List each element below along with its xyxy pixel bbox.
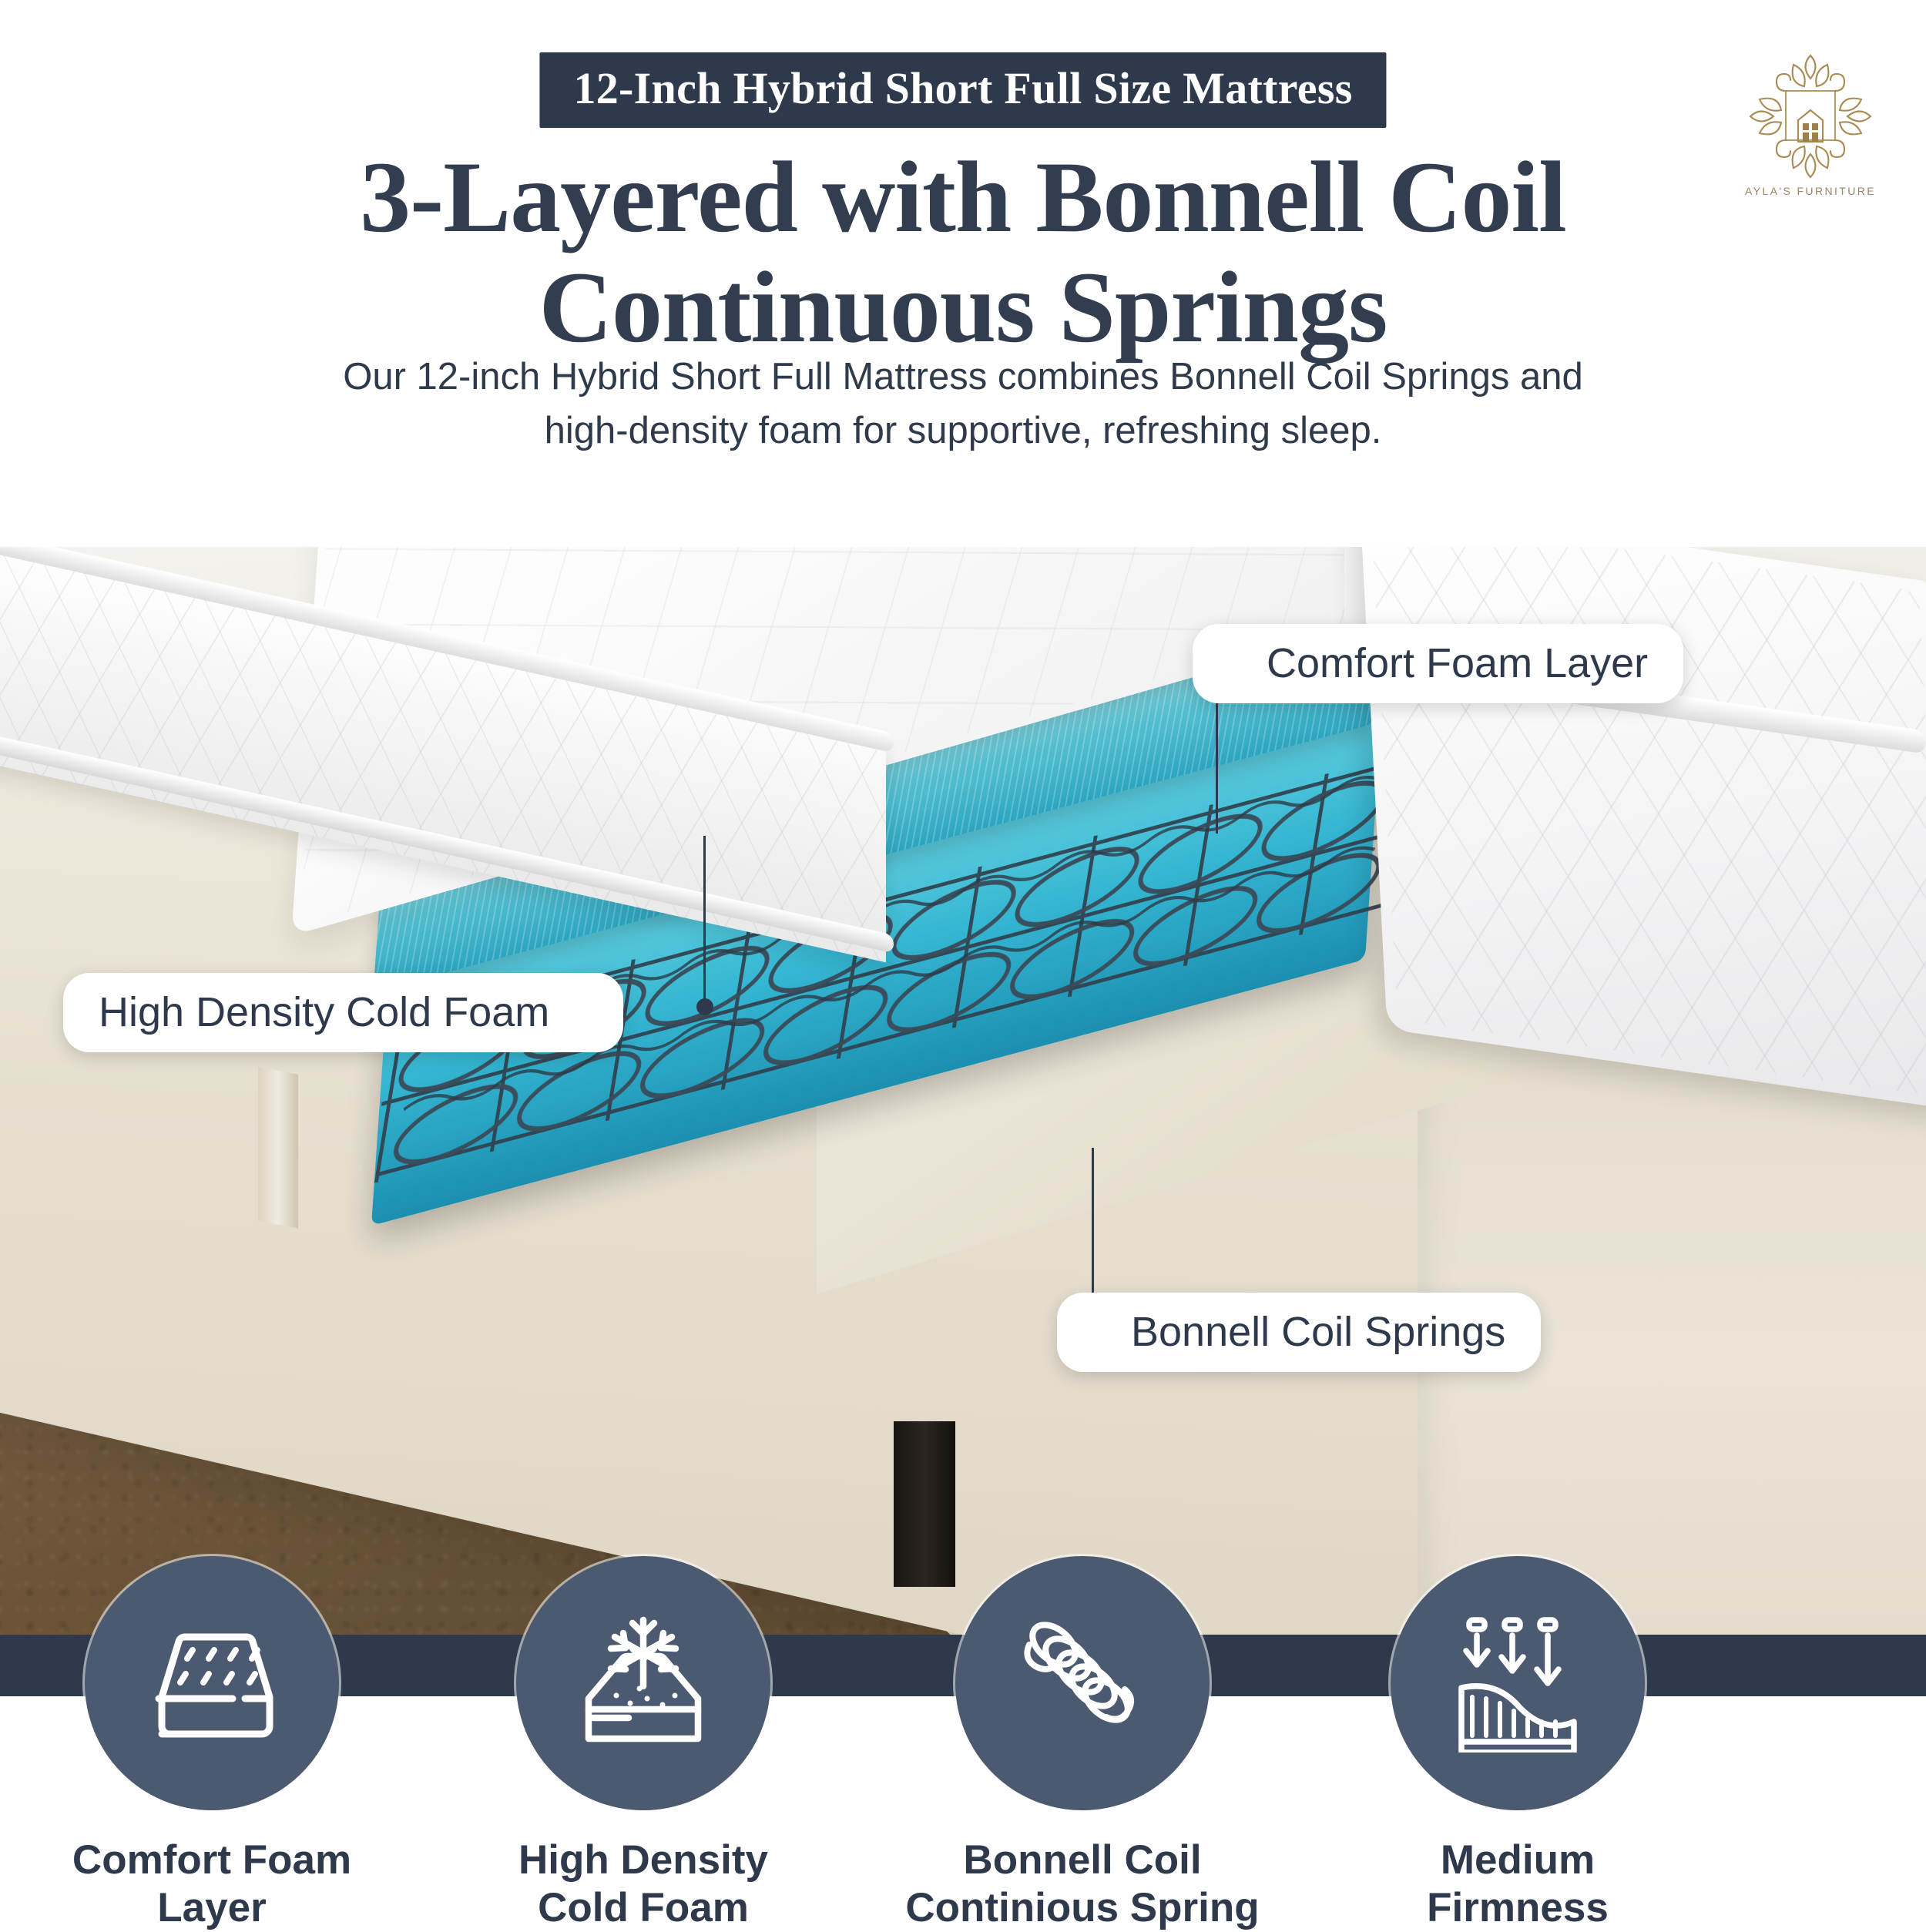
page-title: 3-Layered with Bonnell Coil Continuous S… xyxy=(0,143,1926,362)
mattress-icon xyxy=(139,1622,285,1745)
feature-label: Comfort Foam Layer xyxy=(0,1836,428,1932)
feature-list: Comfort Foam Layer xyxy=(0,1556,1926,1926)
ornamental-house-leaf-emblem-icon xyxy=(1741,48,1880,185)
bed-leg-left xyxy=(258,1067,298,1228)
feature-label-line-1: Medium xyxy=(1441,1837,1595,1883)
logo-wordmark: AYLA'S FURNITURE xyxy=(1741,185,1880,197)
subheading-line-2: high-density foam for supportive, refres… xyxy=(545,410,1382,451)
feature-label: High Density Cold Foam xyxy=(428,1836,859,1932)
brand-logo: AYLA'S FURNITURE xyxy=(1741,48,1880,202)
feature-label: Medium Firmness xyxy=(1302,1836,1733,1932)
product-badge: 12-Inch Hybrid Short Full Size Mattress xyxy=(539,52,1386,128)
subheading: Our 12-inch Hybrid Short Full Mattress c… xyxy=(231,351,1695,458)
headline-line-1: 3-Layered with Bonnell Coil xyxy=(360,140,1566,253)
feature-bonnell-coil-spring[interactable]: Bonnell Coil Continious Spring xyxy=(867,1556,1298,1932)
feature-icon-circle xyxy=(516,1556,770,1810)
feature-comfort-foam-layer[interactable]: Comfort Foam Layer xyxy=(0,1556,428,1932)
feature-icon-circle xyxy=(1391,1556,1645,1810)
headline-line-2: Continuous Springs xyxy=(0,253,1926,363)
subheading-line-1: Our 12-inch Hybrid Short Full Mattress c… xyxy=(343,356,1583,397)
snowflake-mattress-icon xyxy=(570,1614,716,1753)
feature-label-line-1: Comfort Foam xyxy=(72,1837,351,1883)
feature-label-line-1: High Density xyxy=(518,1837,768,1883)
feature-label-line-2: Cold Foam xyxy=(538,1885,749,1930)
feature-label: Bonnell Coil Continious Spring xyxy=(867,1836,1298,1932)
feature-icon-circle xyxy=(955,1556,1210,1810)
firmness-arrows-icon xyxy=(1444,1614,1591,1753)
feature-icon-circle xyxy=(85,1556,339,1810)
feature-label-line-2: Firmness xyxy=(1427,1885,1609,1930)
feature-label-line-1: Bonnell Coil xyxy=(963,1837,1201,1883)
callout-leader-cold-foam xyxy=(703,836,706,1007)
callout-bonnell-coil-springs[interactable]: Bonnell Coil Springs xyxy=(1057,1293,1541,1372)
callout-high-density-cold-foam[interactable]: High Density Cold Foam xyxy=(63,973,623,1052)
callout-dot-cold-foam xyxy=(696,998,713,1015)
header-section: 12-Inch Hybrid Short Full Size Mattress … xyxy=(0,0,1926,547)
feature-label-line-2: Continious Spring xyxy=(905,1885,1259,1930)
feature-label-line-2: Layer xyxy=(157,1885,266,1930)
coil-spring-icon xyxy=(1009,1614,1156,1753)
product-photo xyxy=(0,547,1926,1637)
feature-medium-firmness[interactable]: Medium Firmness xyxy=(1302,1556,1733,1932)
feature-high-density-cold-foam[interactable]: High Density Cold Foam xyxy=(428,1556,859,1932)
callout-comfort-foam-layer[interactable]: Comfort Foam Layer xyxy=(1193,624,1683,703)
